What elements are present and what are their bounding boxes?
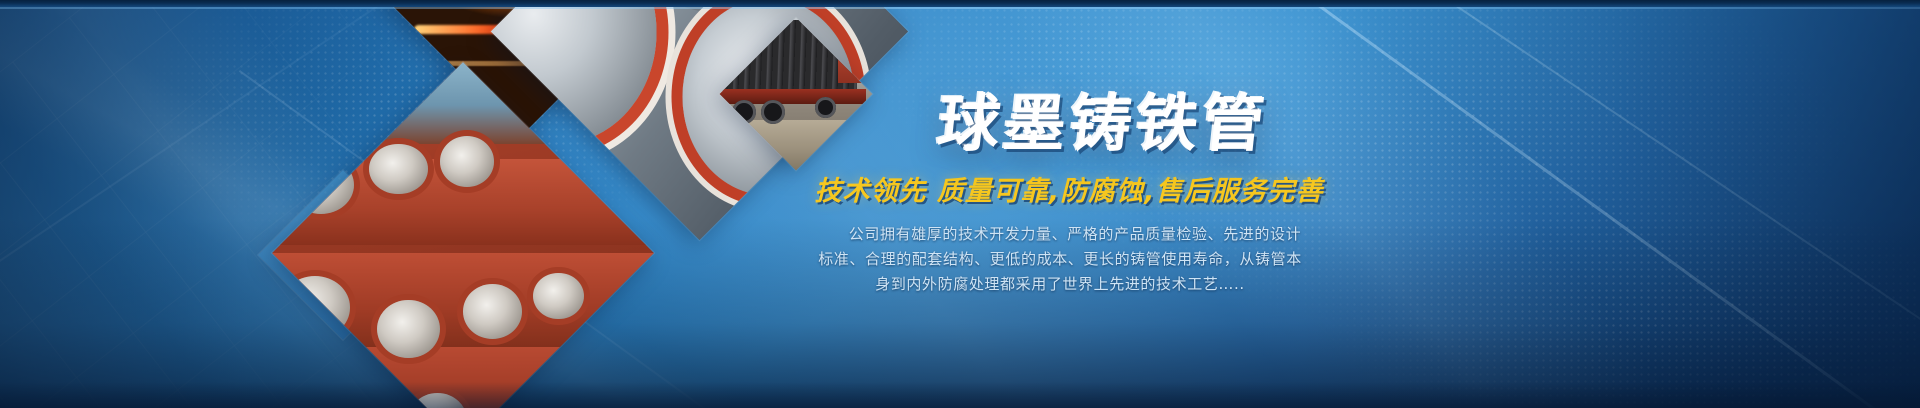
top-edge-strip (0, 0, 1920, 7)
top-highlight-line (0, 7, 1920, 9)
banner-copy: 球墨铸铁管 技术领先 质量可靠,防腐蚀,售后服务完善 公司拥有雄厚的技术开发力量… (700, 92, 1420, 296)
bottom-edge-fade (0, 382, 1920, 408)
banner-subtitle: 技术领先 质量可靠,防腐蚀,售后服务完善 (700, 169, 1420, 208)
description-line: 公司拥有雄厚的技术开发力量、严格的产品质量检验、先进的设计 (700, 222, 1420, 247)
description-line: 身到内外防腐处理都采用了世界上先进的技术工艺….. (700, 272, 1420, 297)
banner-title: 球墨铸铁管 (697, 92, 1424, 155)
description-line: 标准、合理的配套结构、更低的成本、更长的铸管使用寿命，从铸管本 (700, 247, 1420, 272)
banner-description: 公司拥有雄厚的技术开发力量、严格的产品质量检验、先进的设计 标准、合理的配套结构… (700, 222, 1420, 296)
product-banner: 球墨铸铁管 技术领先 质量可靠,防腐蚀,售后服务完善 公司拥有雄厚的技术开发力量… (0, 0, 1920, 408)
